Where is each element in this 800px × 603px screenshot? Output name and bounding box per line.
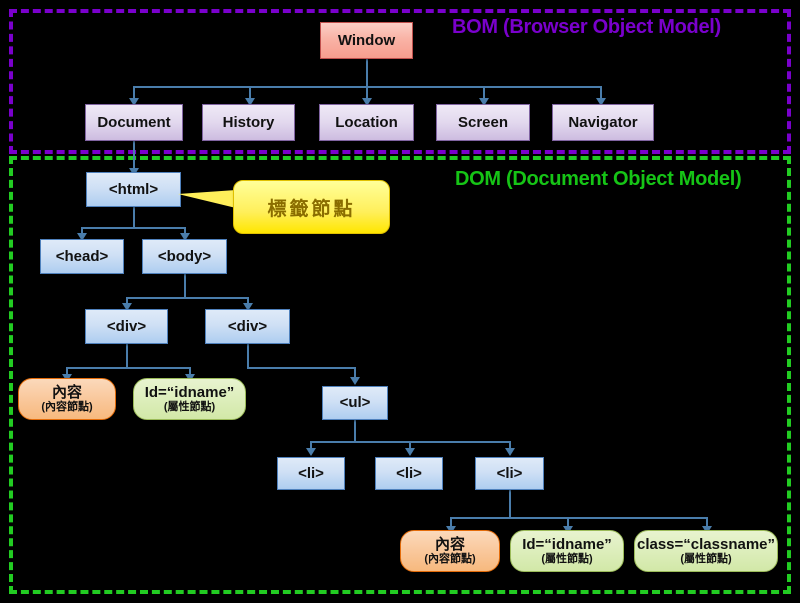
arrow-li1 [306,448,316,456]
node-li-2[interactable]: <li> [375,457,443,490]
node-head[interactable]: <head> [40,239,124,274]
node-location-label: Location [335,115,398,131]
node-location[interactable]: Location [319,104,414,141]
callout-tail-icon [178,190,236,208]
node-li-2-label: <li> [396,466,422,482]
node-li-1-label: <li> [298,466,324,482]
node-attr-class-right-line1: class=“classname” [637,537,775,553]
node-history[interactable]: History [202,104,295,141]
connector-html-bus [81,227,186,229]
node-html[interactable]: <html> [86,172,181,207]
dom-region [9,156,791,594]
node-document-label: Document [97,115,170,131]
connector-html-stem [133,207,135,229]
node-body-label: <body> [158,249,211,265]
connector-div2-bus [247,367,355,369]
connector-body-stem [184,274,186,299]
node-navigator[interactable]: Navigator [552,104,654,141]
node-div-1-label: <div> [107,319,146,335]
node-attr-id-left-line2: (屬性節點) [164,402,215,414]
connector-body-bus [126,297,248,299]
connector-window-stem [366,59,368,88]
arrow-ul [350,377,360,385]
node-li-1[interactable]: <li> [277,457,345,490]
node-html-label: <html> [109,182,158,198]
node-attr-id-left-line1: Id=“idname” [145,385,235,401]
node-window-label: Window [338,33,395,49]
node-content-right[interactable]: 內容 (內容節點) [400,530,500,572]
node-attr-class-right-line2: (屬性節點) [680,554,731,566]
node-body[interactable]: <body> [142,239,227,274]
node-content-right-line2: (內容節點) [424,554,475,566]
node-window[interactable]: Window [320,22,413,59]
callout-tag-node: 標籤節點 [233,180,390,234]
node-ul-label: <ul> [340,395,371,411]
node-div-1[interactable]: <div> [85,309,168,344]
node-screen-label: Screen [458,115,508,131]
node-div-2[interactable]: <div> [205,309,290,344]
node-attr-id-right[interactable]: Id=“idname” (屬性節點) [510,530,624,572]
dom-region-title: DOM (Document Object Model) [455,168,741,191]
node-history-label: History [223,115,275,131]
diagram-canvas: BOM (Browser Object Model) DOM (Document… [0,0,800,603]
node-attr-id-right-line2: (屬性節點) [541,554,592,566]
node-ul[interactable]: <ul> [322,386,388,420]
node-div-2-label: <div> [228,319,267,335]
connector-div1-stem [126,344,128,369]
node-content-left-line2: (內容節點) [41,402,92,414]
node-document[interactable]: Document [85,104,183,141]
callout-tag-node-label: 標籤節點 [267,194,355,221]
bom-region-title: BOM (Browser Object Model) [452,16,721,39]
connector-ul-stem [354,420,356,443]
node-attr-class-right[interactable]: class=“classname” (屬性節點) [634,530,778,572]
node-screen[interactable]: Screen [436,104,530,141]
connector-li3-bus [450,517,708,519]
arrow-li3 [505,448,515,456]
connector-div1-bus [66,367,190,369]
node-content-right-line1: 內容 [435,537,465,553]
node-content-left[interactable]: 內容 (內容節點) [18,378,116,420]
connector-li3-stem [509,490,511,519]
node-li-3-label: <li> [497,466,523,482]
node-li-3[interactable]: <li> [475,457,544,490]
node-content-left-line1: 內容 [52,385,82,401]
node-attr-id-left[interactable]: Id=“idname” (屬性節點) [133,378,246,420]
node-attr-id-right-line1: Id=“idname” [522,537,612,553]
node-head-label: <head> [56,249,109,265]
node-navigator-label: Navigator [568,115,637,131]
arrow-li2 [405,448,415,456]
connector-div2-stem [247,344,249,369]
